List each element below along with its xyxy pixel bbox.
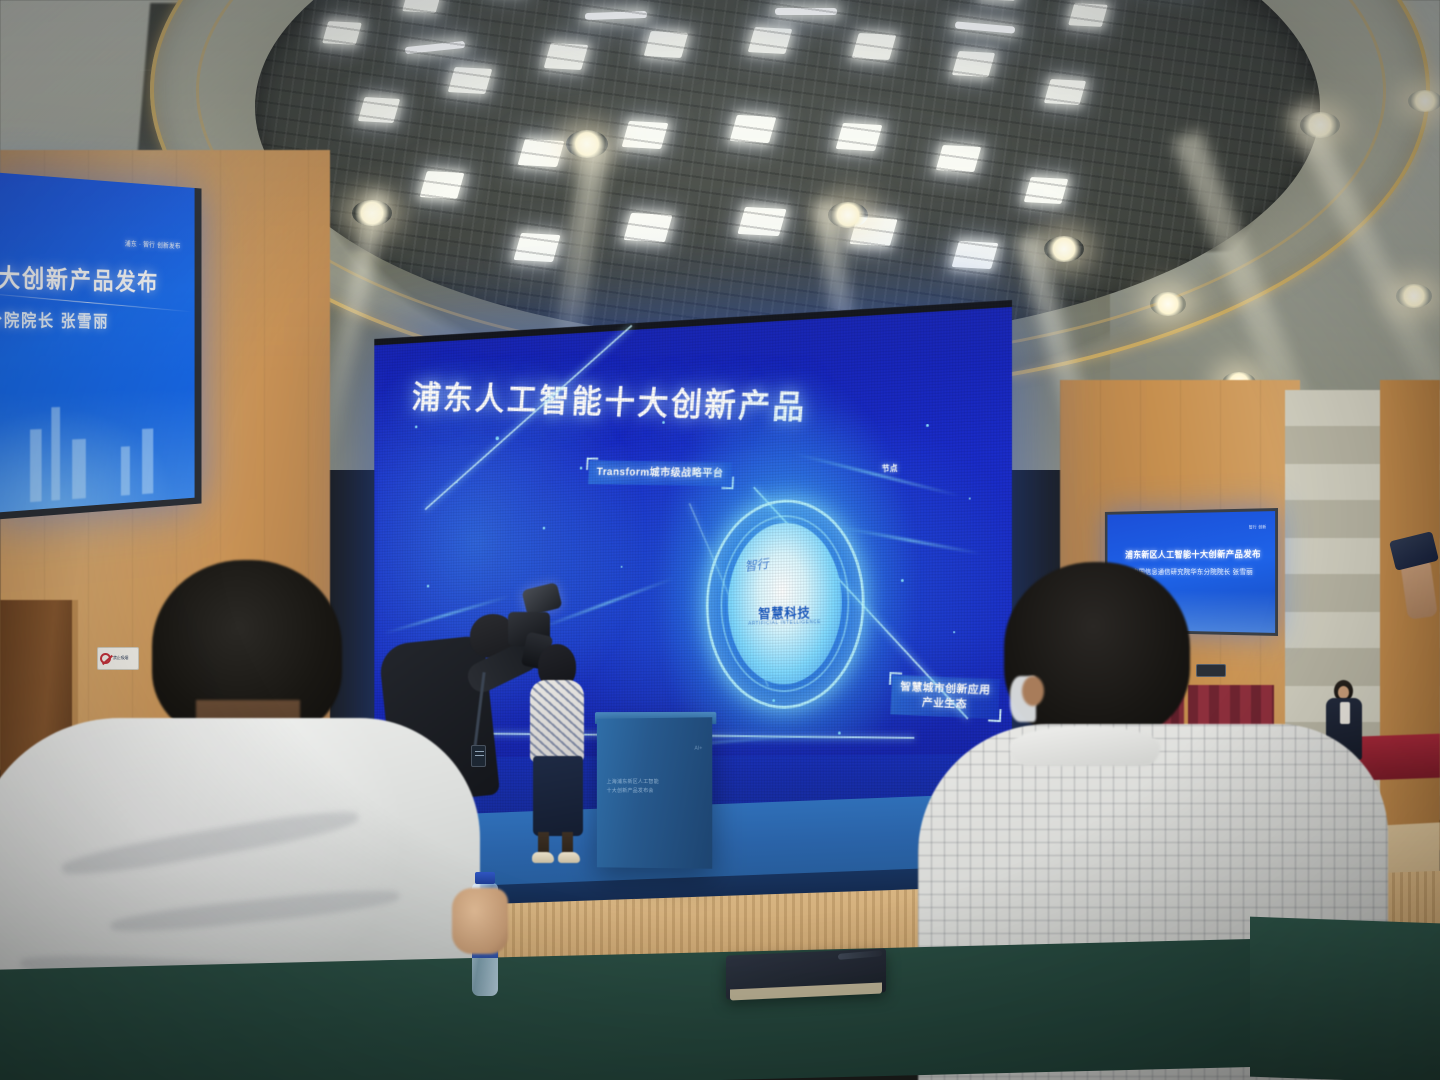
downlight bbox=[1408, 90, 1440, 112]
downlight bbox=[828, 202, 868, 228]
audience-hand bbox=[452, 888, 508, 954]
no-smoking-label: 禁止吸烟 bbox=[113, 656, 128, 661]
podium-text: 上海浦东新区人工智能 十大创新产品发布会 bbox=[607, 778, 698, 796]
screen-left-logo: 浦东 · 智行 创新发布 bbox=[125, 241, 181, 252]
audience-right-ear bbox=[1022, 676, 1044, 706]
display-screen-left: 能十大创新产品发布 华东分院院长 张雪丽 浦东 · 智行 创新发布 bbox=[0, 172, 201, 520]
downlight bbox=[566, 130, 608, 158]
speaker-skirt bbox=[533, 756, 583, 836]
ceiling-coffer-field bbox=[255, 0, 1320, 342]
podium-mark: AI+ bbox=[694, 746, 702, 752]
audience-right-collar bbox=[1010, 726, 1160, 766]
downlight bbox=[1300, 112, 1340, 138]
press-badge bbox=[471, 745, 486, 767]
conference-hall-photo: 禁止吸烟 能十大创新产品发布 华东分院院长 张雪丽 浦东 · 智行 创新发布 bbox=[0, 0, 1440, 1080]
no-smoking-icon bbox=[100, 653, 111, 664]
downlight bbox=[352, 200, 392, 226]
speaker-shoe bbox=[558, 852, 580, 863]
screen-right-logo: 智行 创新 bbox=[1249, 524, 1267, 530]
bottle-cap bbox=[475, 872, 495, 884]
downlight bbox=[1044, 236, 1084, 262]
speaker-blouse bbox=[530, 680, 584, 762]
downlight bbox=[1396, 284, 1432, 308]
audience-table-right bbox=[1250, 917, 1440, 1080]
no-smoking-sign: 禁止吸烟 bbox=[97, 647, 139, 670]
podium: AI+ 上海浦东新区人工智能 十大创新产品发布会 bbox=[597, 717, 712, 869]
wall-control-panel[interactable] bbox=[1196, 664, 1226, 677]
downlight bbox=[1150, 292, 1186, 316]
screen-right-title: 浦东新区人工智能十大创新产品发布 bbox=[1116, 547, 1271, 561]
screen-left-title: 能十大创新产品发布 bbox=[0, 256, 201, 299]
speaker-shoe bbox=[532, 852, 554, 863]
hostess-shirt bbox=[1340, 702, 1350, 724]
screen-left-subtitle: 华东分院院长 张雪丽 bbox=[0, 305, 201, 332]
